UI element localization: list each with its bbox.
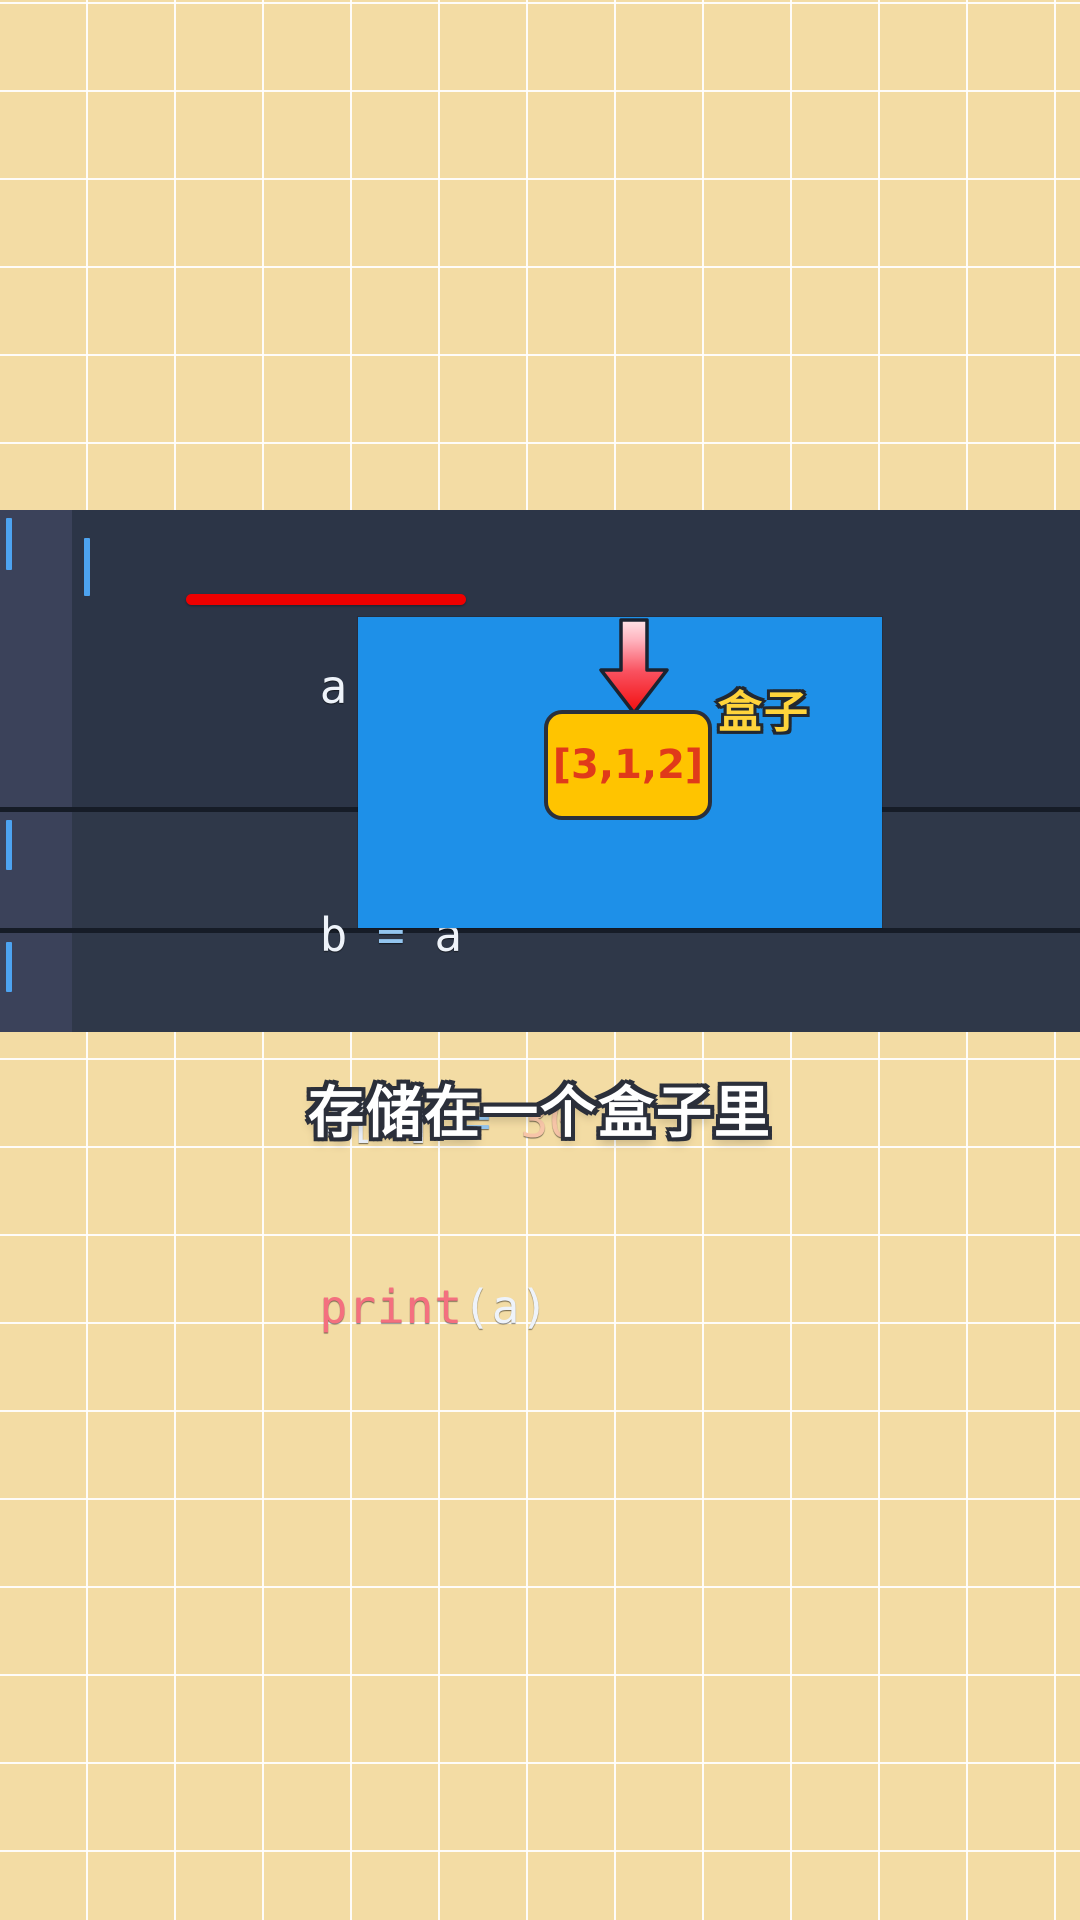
gutter-caret-2 bbox=[6, 820, 12, 870]
token-paren-close: ) bbox=[520, 1280, 549, 1334]
subtitle-caption: 存储在一个盒子里 bbox=[0, 1068, 1080, 1149]
down-arrow-icon bbox=[595, 618, 673, 716]
memory-box-value: [3,1,2] bbox=[553, 742, 703, 788]
text-caret bbox=[84, 538, 90, 596]
token-argument-a: a bbox=[492, 1280, 521, 1334]
token-variable-a: a bbox=[320, 660, 349, 714]
video-frame: a = [3,1,2] b = a b[0] = 30 print(a) bbox=[0, 0, 1080, 1920]
gutter-caret-3 bbox=[6, 942, 12, 992]
token-function-print: print bbox=[320, 1280, 463, 1334]
box-label: 盒子 bbox=[718, 676, 810, 740]
token-paren-open: ( bbox=[463, 1280, 492, 1334]
red-underline-annotation bbox=[186, 594, 466, 605]
code-line-4[interactable]: print(a) bbox=[90, 1214, 1070, 1400]
memory-box: [3,1,2] bbox=[544, 710, 712, 820]
gutter-caret-1 bbox=[6, 518, 12, 570]
token-variable-b: b bbox=[320, 908, 349, 962]
